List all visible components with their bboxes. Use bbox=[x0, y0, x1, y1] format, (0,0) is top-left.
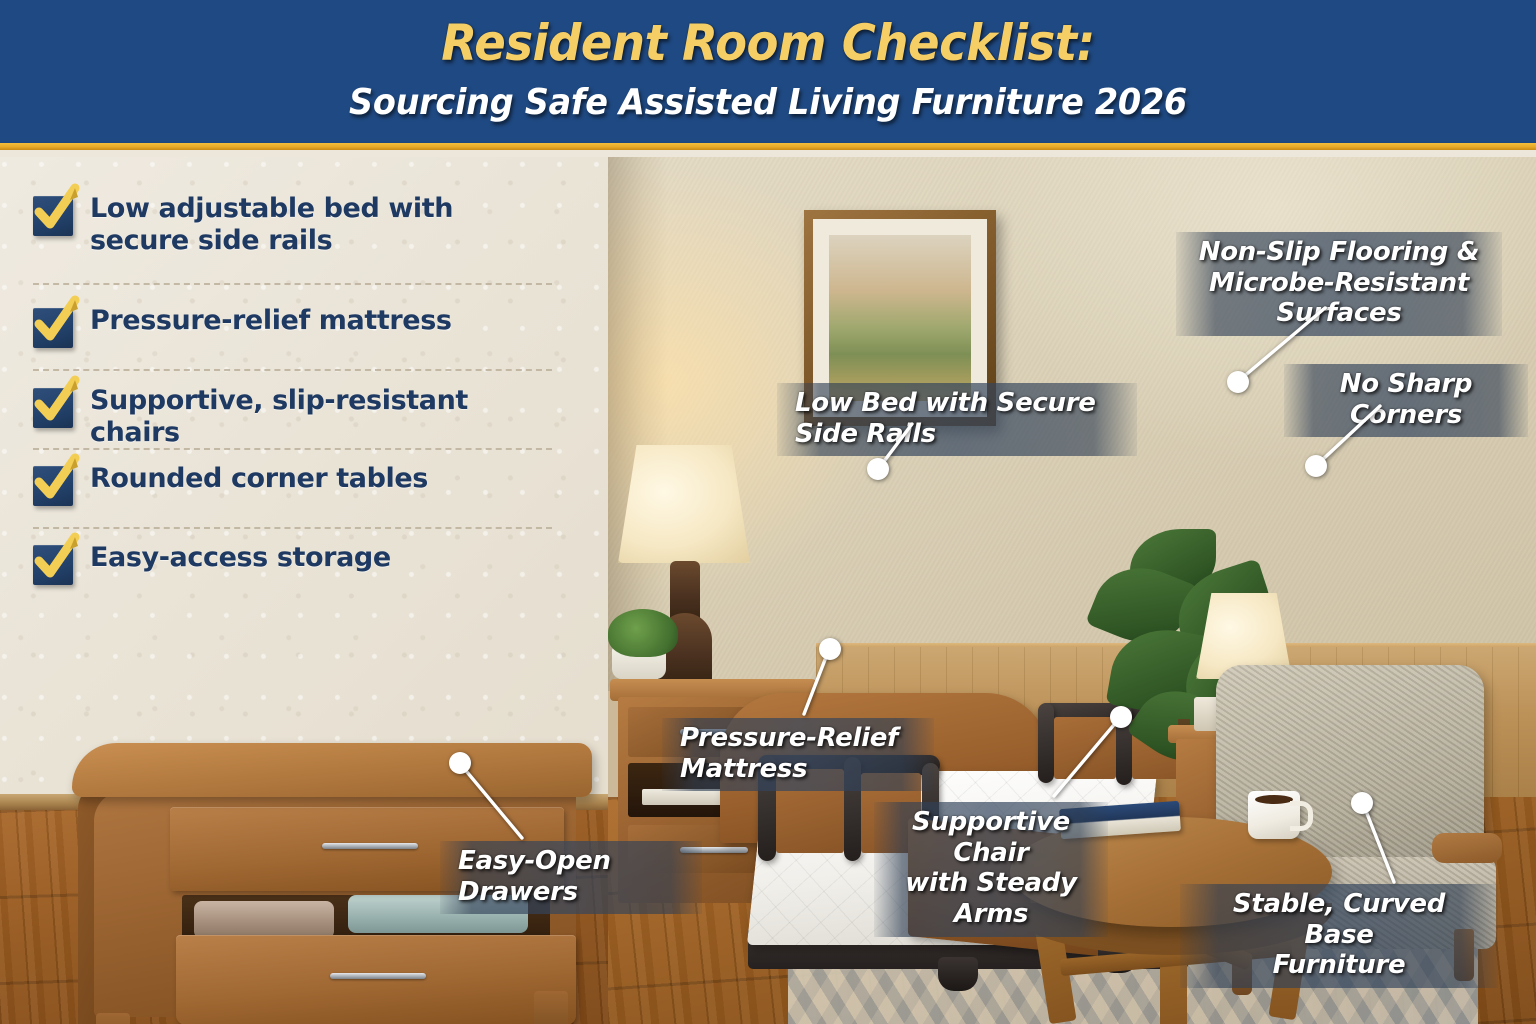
coffee-mug bbox=[1248, 791, 1300, 839]
drawer-handle-icon[interactable] bbox=[330, 973, 426, 979]
callout-low-bed-side-rails: Low Bed with Secure Side Rails bbox=[777, 383, 1137, 456]
checklist-divider bbox=[33, 369, 552, 371]
bed-far-rail-post bbox=[1038, 703, 1054, 783]
checklist-item-rounded-corner-tables[interactable]: Rounded corner tables bbox=[33, 463, 553, 506]
checkbox-checked-icon[interactable] bbox=[33, 308, 73, 348]
drawer-handle-icon[interactable] bbox=[322, 843, 418, 849]
checkbox-checked-icon[interactable] bbox=[33, 545, 73, 585]
checklist-item-label: Low adjustable bed with secure side rail… bbox=[90, 193, 553, 256]
callout-no-sharp-corners: No Sharp Corners bbox=[1284, 364, 1528, 437]
bench-leg bbox=[534, 991, 568, 1024]
landscape-painting bbox=[829, 235, 971, 401]
bench-leg bbox=[96, 1013, 130, 1024]
checkbox-checked-icon[interactable] bbox=[33, 388, 73, 428]
header-banner: Resident Room Checklist: Sourcing Safe A… bbox=[0, 0, 1536, 150]
checkbox-checked-icon[interactable] bbox=[33, 466, 73, 506]
checkbox-checked-icon[interactable] bbox=[33, 196, 73, 236]
callout-supportive-chair: Supportive Chair with Steady Arms bbox=[874, 802, 1108, 937]
checklist-item-supportive-chairs[interactable]: Supportive, slip-resistant chairs bbox=[33, 385, 553, 448]
checklist-divider bbox=[33, 527, 552, 529]
callout-stable-curved-base: Stable, Curved Base Furniture bbox=[1180, 884, 1498, 988]
checklist-item-label: Rounded corner tables bbox=[90, 463, 428, 495]
folded-towel bbox=[194, 901, 334, 939]
lamp-shade bbox=[618, 445, 750, 563]
checklist-item-label: Pressure-relief mattress bbox=[90, 305, 452, 337]
checklist-item-easy-access-storage[interactable]: Easy-access storage bbox=[33, 542, 553, 585]
plant-foliage bbox=[608, 609, 678, 657]
infographic-root: Resident Room Checklist: Sourcing Safe A… bbox=[0, 0, 1536, 1024]
callout-non-slip-flooring: Non-Slip Flooring & Microbe-Resistant Su… bbox=[1176, 232, 1502, 336]
bed-caster-wheel bbox=[938, 957, 978, 991]
checklist-item-low-adjustable-bed[interactable]: Low adjustable bed with secure side rail… bbox=[33, 193, 553, 256]
callout-easy-open-drawers: Easy-Open Drawers bbox=[440, 841, 702, 914]
armchair-arm-cap bbox=[1432, 833, 1502, 863]
callout-pressure-relief-mattress: Pressure-Relief Mattress bbox=[662, 718, 934, 791]
checklist-item-pressure-relief-mattress[interactable]: Pressure-relief mattress bbox=[33, 305, 553, 348]
page-title: Resident Room Checklist: bbox=[54, 14, 1482, 72]
checklist-item-label: Supportive, slip-resistant chairs bbox=[90, 385, 553, 448]
bench-top-surface bbox=[72, 743, 592, 797]
bench-drawer-bottom-open[interactable] bbox=[176, 935, 576, 1024]
checklist-divider bbox=[33, 448, 552, 450]
checklist-item-label: Easy-access storage bbox=[90, 542, 391, 574]
page-subtitle: Sourcing Safe Assisted Living Furniture … bbox=[54, 82, 1482, 123]
checklist-divider bbox=[33, 283, 552, 285]
